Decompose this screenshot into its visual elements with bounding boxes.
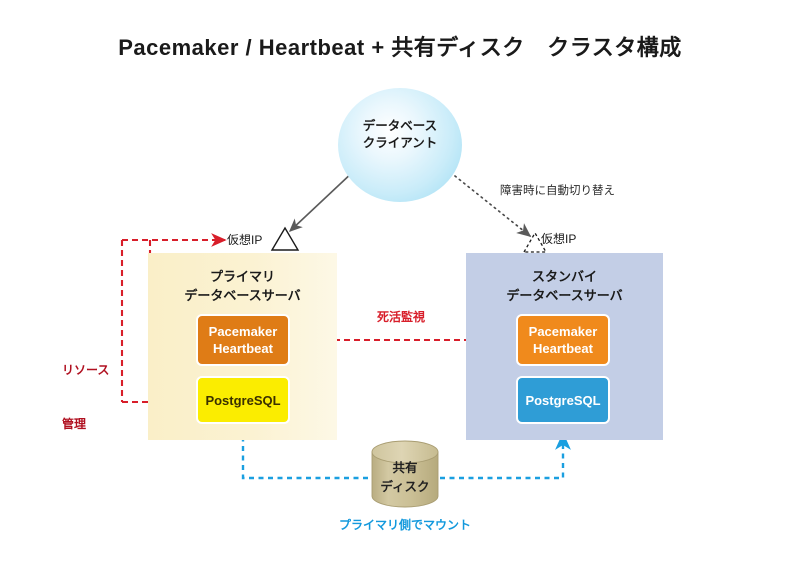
standby-pacemaker-heartbeat-box[interactable]: Pacemaker Heartbeat [516,314,610,366]
primary-server-title: プライマリ データベースサーバ [148,267,337,305]
standby-server-title: スタンバイ データベースサーバ [466,267,663,305]
shared-disk-mount-note: プライマリ側でマウント [330,516,480,533]
primary-postgresql-box[interactable]: PostgreSQL [196,376,290,424]
database-client-label: データベース クライアント [330,118,470,152]
standby-title-line1: スタンバイ [466,267,663,286]
resource-annotation-line2: 管理 [62,415,109,433]
link-standby-to-shared-disk [440,434,563,478]
primary-title-line1: プライマリ [148,267,337,286]
standby-pacemaker-line1: Pacemaker [529,323,598,340]
virtual-ip-label-primary: 仮想IP [227,231,262,248]
client-label-line2: クライアント [330,135,470,152]
failover-annotation: 障害時に自動切り替え [500,182,615,198]
page-title: Pacemaker / Heartbeat + 共有ディスク クラスタ構成 [0,30,800,62]
standby-postgresql-box[interactable]: PostgreSQL [516,376,610,424]
standby-postgresql-label: PostgreSQL [525,392,600,409]
primary-title-line2: データベースサーバ [148,286,337,305]
shared-disk-line2: ディスク [355,478,455,497]
primary-pacemaker-heartbeat-box[interactable]: Pacemaker Heartbeat [196,314,290,366]
primary-postgresql-label: PostgreSQL [205,392,280,409]
resource-annotation-line1: リソース [62,361,109,379]
heartbeat-monitoring-annotation: 死活監視 [377,308,425,325]
standby-pacemaker-line2: Heartbeat [529,340,598,357]
shared-disk-label: 共有 ディスク [355,459,455,497]
shared-disk-line1: 共有 [355,459,455,478]
primary-pacemaker-line2: Heartbeat [209,340,278,357]
diagram-canvas: Pacemaker / Heartbeat + 共有ディスク クラスタ構成 [0,0,800,580]
standby-title-line2: データベースサーバ [466,286,663,305]
resource-management-annotation: リソース 管理 [62,325,109,469]
virtual-ip-triangle-primary [272,228,298,250]
primary-pacemaker-line1: Pacemaker [209,323,278,340]
arrow-client-to-primary [290,170,355,231]
client-label-line1: データベース [330,118,470,135]
virtual-ip-label-standby: 仮想IP [541,230,576,247]
